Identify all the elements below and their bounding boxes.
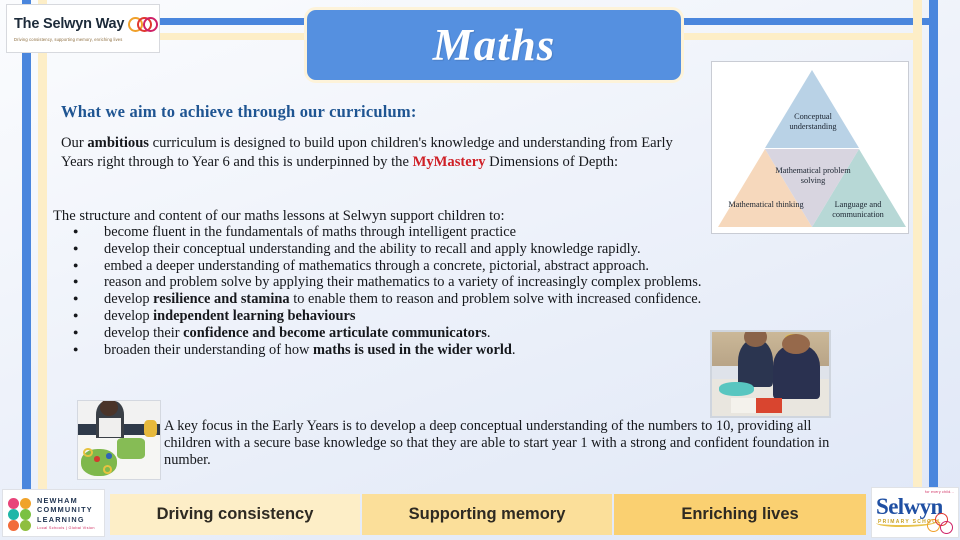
bullet-text-emphasis: resilience and stamina	[153, 291, 289, 307]
banner-band-enriching-lives: Enriching lives	[614, 494, 866, 535]
triangle-label-problem-solving: Mathematical problem solving	[770, 166, 856, 185]
newham-logo-line2: COMMUNITY	[37, 505, 95, 514]
bullet-text-post: .	[487, 325, 491, 341]
aim-heading: What we aim to achieve through our curri…	[61, 102, 417, 122]
banner-band-supporting-memory: Supporting memory	[362, 494, 612, 535]
interlocking-rings-icon	[128, 16, 158, 33]
photo-early-years-activity	[77, 400, 161, 480]
newham-community-learning-logo: NEWHAM COMMUNITY LEARNING Local Schools …	[2, 489, 105, 537]
intro-part3: Dimensions of Depth:	[486, 154, 619, 170]
bullet-item: embed a deeper understanding of mathemat…	[68, 258, 868, 275]
photo-classroom-children	[710, 330, 831, 418]
bullet-item: develop resilience and stamina to enable…	[68, 291, 868, 308]
bullet-text-pre: embed a deeper understanding of mathemat…	[104, 258, 649, 274]
selwyn-way-logo-title: The Selwyn Way	[14, 16, 124, 32]
mymastery-highlight: MyMastery	[413, 154, 486, 170]
selwyn-way-logo: The Selwyn Way Driving consistency, supp…	[6, 4, 160, 53]
bullet-text-emphasis: maths is used in the wider world	[313, 342, 512, 358]
intro-paragraph: Our ambitious curriculum is designed to …	[61, 134, 691, 171]
bullet-text-post: .	[512, 342, 516, 358]
bullet-text-pre: develop	[104, 291, 153, 307]
intro-part1: Our	[61, 135, 87, 151]
bullet-text-emphasis: independent learning behaviours	[153, 308, 355, 324]
bullet-text-pre: reason and problem solve by applying the…	[104, 274, 701, 290]
triangle-label-mathematical-thinking: Mathematical thinking	[723, 200, 809, 210]
triangle-label-conceptual-understanding: Conceptual understanding	[770, 112, 856, 131]
structure-lead-text: The structure and content of our maths l…	[53, 208, 505, 225]
bullet-text-pre: become fluent in the fundamentals of mat…	[104, 224, 516, 240]
early-years-paragraph: A key focus in the Early Years is to dev…	[164, 418, 836, 468]
newham-dots-icon	[7, 496, 33, 530]
bullet-text-pre: broaden their understanding of how	[104, 342, 313, 358]
frame-bar-right-yellow	[913, 0, 922, 498]
selwyn-way-logo-row: The Selwyn Way	[14, 16, 152, 33]
newham-logo-text: NEWHAM COMMUNITY LEARNING Local Schools …	[37, 496, 95, 530]
bullet-text-pre: develop their conceptual understanding a…	[104, 241, 641, 257]
selwyn-way-logo-tagline: Driving consistency, supporting memory, …	[14, 37, 152, 42]
frame-bar-top-right-yellow	[665, 33, 922, 40]
selwyn-primary-school-logo: for every child... Selwyn PRIMARY SCHOOL	[871, 487, 959, 538]
page-title: Maths	[433, 19, 556, 71]
frame-bar-top-left-blue	[152, 18, 307, 25]
frame-bar-top-left-yellow	[152, 33, 319, 40]
frame-bar-top-right-blue	[679, 18, 934, 25]
triangle-diagram-canvas: Conceptual understanding Mathematical pr…	[720, 70, 900, 227]
slide-title-pill: Maths	[307, 10, 681, 80]
newham-logo-line1: NEWHAM	[37, 496, 95, 505]
bullet-text-post: to enable them to reason and problem sol…	[290, 291, 702, 307]
frame-bar-left-yellow	[38, 0, 47, 498]
frame-bar-left-blue	[22, 0, 31, 505]
triangle-conceptual-understanding-shape	[765, 70, 859, 148]
newham-logo-tagline: Local Schools | Global Vision	[37, 526, 95, 530]
selwyn-school-rings-icon	[927, 513, 955, 535]
triangle-label-language-communication: Language and communication	[815, 200, 901, 219]
bullet-item: reason and problem solve by applying the…	[68, 274, 868, 291]
banner-band-driving-consistency: Driving consistency	[110, 494, 360, 535]
slide-root: The Selwyn Way Driving consistency, supp…	[0, 0, 960, 540]
frame-bar-right-blue	[929, 0, 938, 505]
bullet-text-pre: develop their	[104, 325, 183, 341]
bullet-text-emphasis: confidence and become articulate communi…	[183, 325, 487, 341]
intro-bold-ambitious: ambitious	[87, 135, 149, 151]
newham-logo-line3: LEARNING	[37, 515, 95, 524]
bullet-text-pre: develop	[104, 308, 153, 324]
bullet-item: develop their conceptual understanding a…	[68, 241, 868, 258]
dimensions-of-depth-diagram: Conceptual understanding Mathematical pr…	[711, 61, 909, 234]
bullet-item: develop independent learning behaviours	[68, 308, 868, 325]
